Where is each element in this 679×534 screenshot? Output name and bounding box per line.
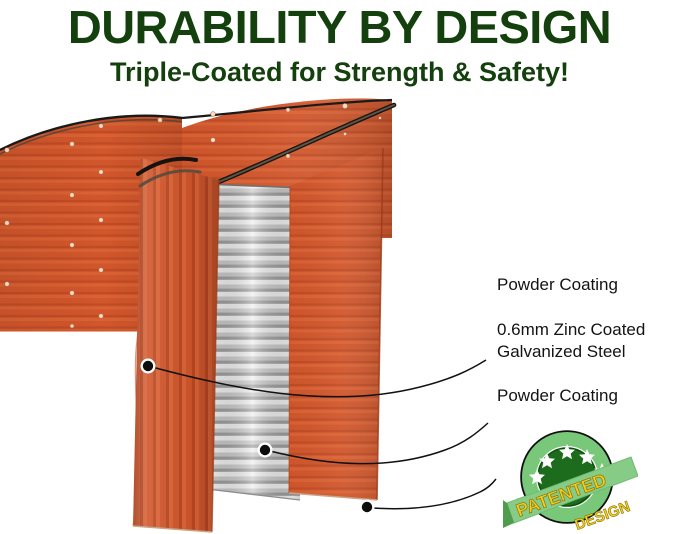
callout-label-line1: 0.6mm Zinc Coated bbox=[497, 319, 645, 341]
callout-dot-top[interactable] bbox=[141, 359, 156, 374]
page-subtitle: Triple-Coated for Strength & Safety! bbox=[0, 56, 679, 88]
callout-label-powder-coating-top: Powder Coating bbox=[497, 274, 618, 296]
callout-label-text: Powder Coating bbox=[497, 386, 618, 405]
callout-label-powder-coating-bottom: Powder Coating bbox=[497, 385, 618, 407]
infographic-root: DURABILITY BY DESIGN Triple-Coated for S… bbox=[0, 0, 679, 534]
patented-design-badge: PATENTED DESIGN bbox=[503, 427, 638, 532]
callout-dot-bottom[interactable] bbox=[360, 500, 375, 515]
front-corner-column bbox=[128, 148, 228, 534]
callout-label-text: Powder Coating bbox=[497, 275, 618, 294]
page-title: DURABILITY BY DESIGN bbox=[0, 2, 679, 52]
leader-line-bottom bbox=[373, 479, 496, 509]
callout-dot-middle[interactable] bbox=[258, 443, 273, 458]
callout-label-line2: Galvanized Steel bbox=[497, 341, 645, 363]
right-front-panel bbox=[280, 133, 395, 513]
callout-label-zinc-coated-steel: 0.6mm Zinc Coated Galvanized Steel bbox=[497, 319, 645, 363]
